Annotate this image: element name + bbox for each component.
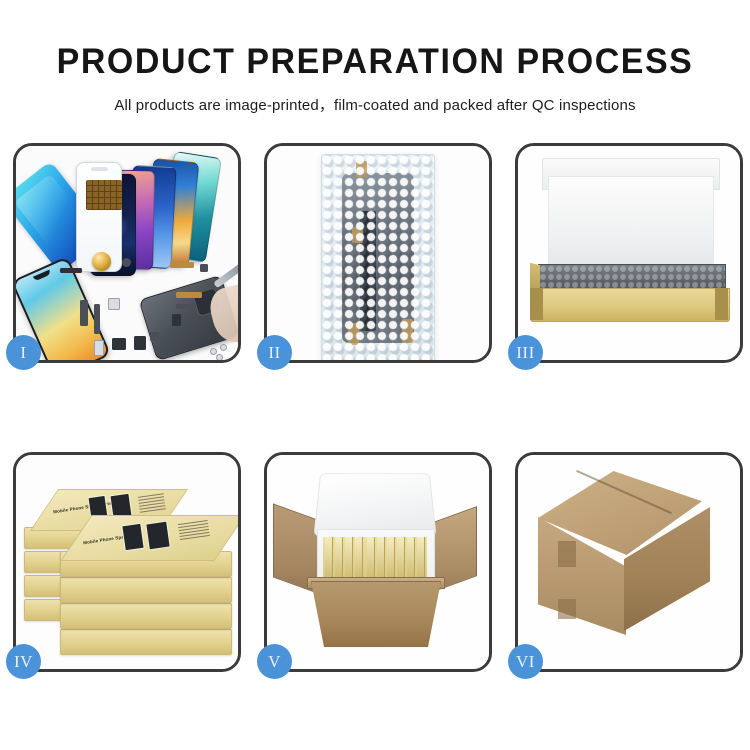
page-subtitle: All products are image-printed，film-coat… <box>0 94 750 115</box>
step-badge-1: I <box>6 335 41 370</box>
step-badge-6: VI <box>508 644 543 679</box>
connector-grid-part <box>86 180 122 210</box>
step-6-image <box>518 455 740 669</box>
stacked-box <box>60 629 232 655</box>
step-3-image <box>518 146 740 360</box>
process-step-4[interactable]: Mobile Phone Spare Parts <box>13 452 241 672</box>
step-badge-4: IV <box>6 644 41 679</box>
box-front-panel <box>530 288 730 322</box>
page-title: PRODUCT PREPARATION PROCESS <box>11 44 739 79</box>
step-badge-5: V <box>257 644 292 679</box>
carton-body <box>311 581 441 647</box>
process-step-3[interactable]: III <box>515 143 743 363</box>
step-2-image <box>267 146 489 360</box>
process-step-6[interactable]: VI <box>515 452 743 672</box>
bubble-highlights <box>322 155 434 360</box>
step-1-image <box>16 146 238 360</box>
stacked-box <box>60 603 232 629</box>
process-step-5[interactable]: V <box>264 452 492 672</box>
product-photo <box>121 523 144 552</box>
product-preparation-infographic: PRODUCT PREPARATION PROCESS All products… <box>0 0 750 750</box>
carton-tape-upper <box>558 541 576 567</box>
box-stack: Mobile Phone Spare Parts <box>22 471 234 667</box>
process-step-1[interactable]: I <box>13 143 241 363</box>
printed-box-lid: Mobile Phone Spare Parts <box>60 515 238 561</box>
label-spec-lines <box>138 493 166 515</box>
stacked-box <box>60 577 232 603</box>
carton-tape-lower <box>558 599 576 619</box>
foam-lid <box>313 473 436 536</box>
step-5-image <box>267 455 489 669</box>
step-badge-2: II <box>257 335 292 370</box>
box-corner-left <box>530 288 543 320</box>
process-step-2[interactable]: II <box>264 143 492 363</box>
box-corner-right <box>715 288 728 320</box>
process-step-grid: I II <box>13 143 737 672</box>
boxes-inside-carton <box>323 537 427 581</box>
product-photo <box>145 521 171 551</box>
label-spec-lines <box>178 520 210 543</box>
foam-sheet <box>548 176 714 266</box>
step-4-image: Mobile Phone Spare Parts <box>16 455 238 669</box>
header: PRODUCT PREPARATION PROCESS All products… <box>0 0 750 115</box>
step-badge-3: III <box>508 335 543 370</box>
bubble-wrap-bag <box>321 154 435 360</box>
